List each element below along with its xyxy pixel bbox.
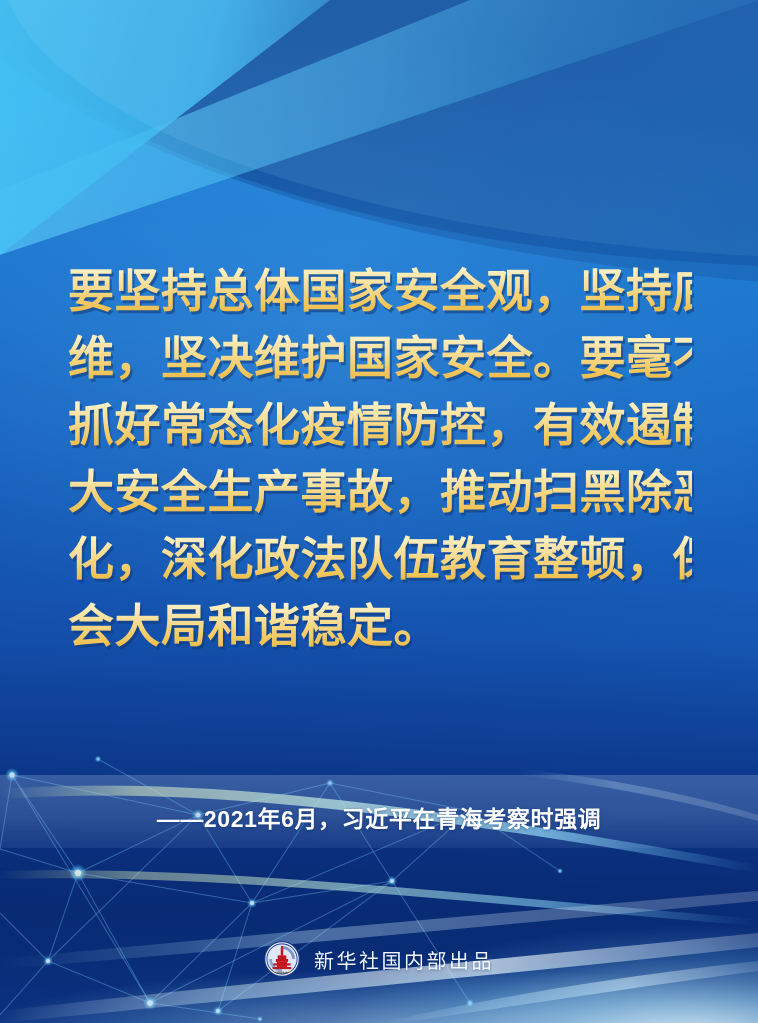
quote-text-block: 要坚持总体国家安全观，坚持底线思 维，坚决维护国家安全。要毫不放松 抓好常态化疫… bbox=[68, 258, 692, 660]
quote-line-2: 维，坚决维护国家安全。要毫不放松 bbox=[68, 325, 692, 392]
footer-bar: XINHUA 新华社国内部出品 bbox=[0, 941, 758, 977]
xinhua-agency-logo-icon: XINHUA bbox=[264, 941, 300, 977]
quote-line-6: 会大局和谐稳定。 bbox=[68, 593, 692, 660]
quote-line-1: 要坚持总体国家安全观，坚持底线思 bbox=[68, 258, 692, 325]
quote-line-3: 抓好常态化疫情防控，有效遏制重特 bbox=[68, 392, 692, 459]
footer-label: 新华社国内部出品 bbox=[314, 945, 494, 974]
quote-line-4: 大安全生产事故，推动扫黑除恶常态 bbox=[68, 459, 692, 526]
light-ribbon-streaks bbox=[0, 723, 758, 1023]
poster-canvas: 要坚持总体国家安全观，坚持底线思 维，坚决维护国家安全。要毫不放松 抓好常态化疫… bbox=[0, 0, 758, 1023]
svg-text:XINHUA: XINHUA bbox=[277, 970, 288, 974]
network-constellation-graphic bbox=[0, 753, 758, 1023]
attribution-text: ——2021年6月，习近平在青海考察时强调 bbox=[0, 800, 758, 834]
quote-line-5: 化，深化政法队伍教育整顿，保持社 bbox=[68, 526, 692, 593]
